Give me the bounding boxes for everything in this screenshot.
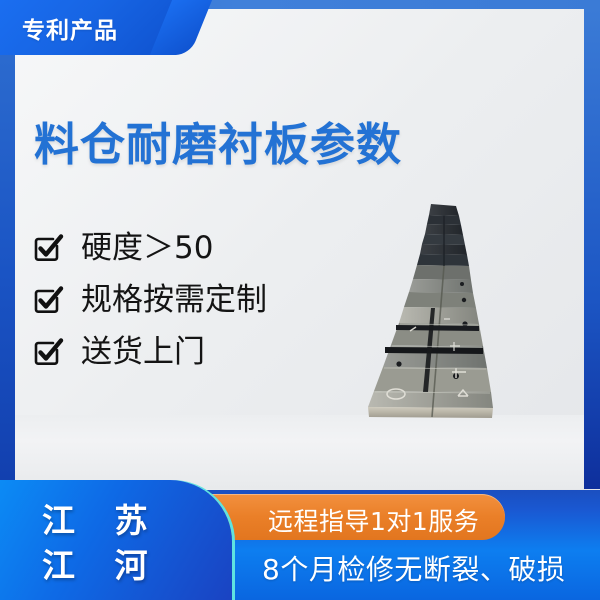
feature-text: 硬度＞50 <box>81 233 213 264</box>
poster-canvas: 专利产品 料仓耐磨衬板参数 硬度＞50 规格按需定制 <box>0 0 600 600</box>
checkbox-checked-icon <box>34 285 64 315</box>
right-border-stripe <box>584 9 600 489</box>
patent-ribbon-label: 专利产品 <box>22 11 118 45</box>
company-brand: 江 苏 江 河 <box>42 498 162 588</box>
floor-shading-band <box>15 415 584 489</box>
list-item: 送货上门 <box>34 326 267 378</box>
page-title: 料仓耐磨衬板参数 <box>34 108 402 173</box>
brand-line-1: 江 苏 <box>42 498 162 543</box>
list-item: 规格按需定制 <box>34 274 267 326</box>
checkbox-checked-icon <box>34 337 64 367</box>
checkbox-checked-icon <box>34 233 64 263</box>
footer-bar: 远程指导1对1服务 8个月检修无断裂、破损 江 苏 江 河 <box>0 480 600 600</box>
feature-list: 硬度＞50 规格按需定制 送货上门 <box>34 222 267 378</box>
list-item: 硬度＞50 <box>34 222 267 274</box>
left-border-stripe <box>0 9 15 489</box>
service-pill-label: 远程指导1对1服务 <box>268 502 479 538</box>
warranty-text: 8个月检修无断裂、破损 <box>262 548 565 588</box>
brand-line-2: 江 河 <box>42 543 162 588</box>
feature-text: 送货上门 <box>81 337 205 368</box>
product-image <box>352 196 552 426</box>
feature-text: 规格按需定制 <box>81 285 267 316</box>
